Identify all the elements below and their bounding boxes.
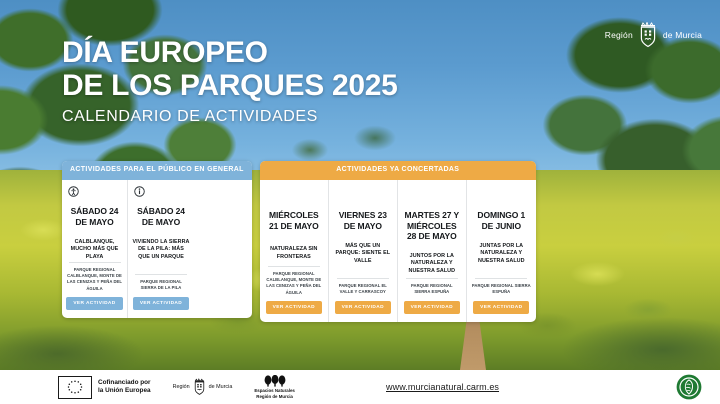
activity-date: MARTES 27 Y MIÉRCOLES 28 DE MAYO [402,210,462,241]
activity-column: MIÉRCOLES 21 DE MAYO NATURALEZA SIN FRON… [260,180,329,322]
eu-flag-stars-icon [64,379,86,395]
card-columns: SÁBADO 24 DE MAYO CALBLANQUE, MUCHO MÁS … [62,180,252,318]
footer-logos: Cofinanciado por la Unión Europea Región… [58,375,295,400]
activity-title: VIVIENDO LA SIERRA DE LA PILA: MÁS QUE U… [132,238,190,262]
brand-prefix: Región [605,30,633,40]
card-public-general: ACTIVIDADES PARA EL PÚBLICO EN GENERAL S… [62,161,252,318]
activity-park: PARQUE REGIONAL SIERRA DE LA PILA [132,275,190,292]
natural-line-1: Espacios Naturales [254,388,295,394]
region-de-murcia-footer-logo: Región de Murcia [173,378,233,396]
eu-flag-box [58,376,92,399]
icon-spacer [473,186,484,201]
accessibility-circle-icon [68,186,79,197]
eu-text-line-2: la Unión Europea [98,387,151,395]
murcia-prefix: Región [173,384,190,390]
activity-date: SÁBADO 24 DE MAYO [66,206,123,227]
eu-logo-text: Cofinanciado por la Unión Europea [98,379,151,396]
icon-spacer [404,186,415,201]
murcia-suffix: de Murcia [209,384,233,390]
card-header-public-general: ACTIVIDADES PARA EL PÚBLICO EN GENERAL [62,161,252,180]
activity-column: VIERNES 23 DE MAYO MÁS QUE UN PARQUE: SI… [329,180,398,322]
ver-actividad-button[interactable]: VER ACTIVIDAD [66,297,122,310]
icon-spacer [335,186,346,201]
activity-title: CALBLANQUE, MUCHO MÁS QUE PLAYA [66,238,123,262]
green-globe-seal-icon [676,374,702,400]
subtitle: CALENDARIO DE ACTIVIDADES [62,108,398,126]
activity-park: PARQUE REGIONAL SIERRA ESPUÑA [471,279,532,296]
footer: Cofinanciado por la Unión Europea Región… [0,370,720,404]
icon-spacer [266,186,277,201]
activity-park: PARQUE REGIONAL CALBLANQUE, MONTE DE LAS… [66,263,123,292]
activity-park: PARQUE REGIONAL CALBLANQUE, MONTE DE LAS… [264,267,324,296]
espacios-naturales-text: Espacios Naturales Región de Murcia [254,388,295,400]
ver-actividad-button[interactable]: VER ACTIVIDAD [335,301,391,314]
eu-cofunding-logo: Cofinanciado por la Unión Europea [58,376,151,399]
murcia-crowned-shield-icon [193,378,206,396]
card-header-already-arranged: ACTIVIDADES YA CONCERTADAS [260,161,536,180]
title-line-2: DE LOS PARQUES 2025 [62,71,398,102]
eu-text-line-1: Cofinanciado por [98,379,151,387]
region-de-murcia-logo: Región de Murcia [605,22,702,48]
info-circle-icon [134,186,145,197]
activity-column: SÁBADO 24 DE MAYO CALBLANQUE, MUCHO MÁS … [62,180,128,318]
espacios-naturales-logo: Espacios Naturales Región de Murcia [254,375,295,400]
activity-date: DOMINGO 1 DE JUNIO [471,210,532,231]
activity-title: JUNTAS POR LA NATURALEZA Y NUESTRA SALUD [471,242,532,266]
activity-column: MARTES 27 Y MIÉRCOLES 28 DE MAYO JUNTOS … [398,180,467,322]
ver-actividad-button[interactable]: VER ACTIVIDAD [473,301,529,314]
brand-suffix: de Murcia [663,30,702,40]
activity-column: SÁBADO 24 DE MAYO VIVIENDO LA SIERRA DE … [128,180,194,318]
headline-block: DÍA EUROPEO DE LOS PARQUES 2025 CALENDAR… [62,38,398,126]
activity-title: JUNTOS POR LA NATURALEZA Y NUESTRA SALUD [402,252,462,276]
activity-park: PARQUE REGIONAL EL VALLE Y CARRASCOY [333,279,393,296]
title-line-1: DÍA EUROPEO [62,38,398,69]
ver-actividad-button[interactable]: VER ACTIVIDAD [404,301,460,314]
website-url[interactable]: www.murcianatural.carm.es [386,382,499,392]
activity-title: MÁS QUE UN PARQUE: SIENTE EL VALLE [333,242,393,266]
poster-canvas: Región de Murcia DÍA EUROPEO DE LOS PARQ… [0,0,720,404]
card-already-arranged: ACTIVIDADES YA CONCERTADAS MIÉRCOLES 21 … [260,161,536,322]
murcia-crowned-shield-icon [638,22,658,48]
natural-line-2: Región de Murcia [254,394,295,400]
ver-actividad-button[interactable]: VER ACTIVIDAD [133,297,189,310]
activity-title: NATURALEZA SIN FRONTERAS [264,242,324,266]
activity-date: VIERNES 23 DE MAYO [333,210,393,231]
activity-date: SÁBADO 24 DE MAYO [132,206,190,227]
ver-actividad-button[interactable]: VER ACTIVIDAD [266,301,322,314]
card-columns: MIÉRCOLES 21 DE MAYO NATURALEZA SIN FRON… [260,180,536,322]
three-trees-icon [262,375,288,387]
activity-date: MIÉRCOLES 21 DE MAYO [264,210,324,231]
activity-column: DOMINGO 1 DE JUNIO JUNTAS POR LA NATURAL… [467,180,536,322]
calendar-cards: ACTIVIDADES PARA EL PÚBLICO EN GENERAL S… [62,161,536,322]
activity-park: PARQUE REGIONAL SIERRA ESPUÑA [402,279,462,296]
